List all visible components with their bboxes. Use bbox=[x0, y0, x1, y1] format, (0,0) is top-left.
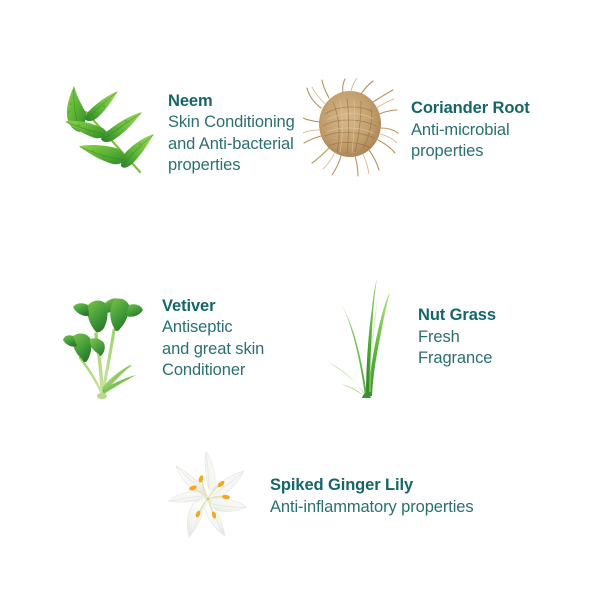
ingredient-item-neem: Neem Skin Conditioning and Anti-bacteria… bbox=[52, 82, 295, 185]
ingredient-text-vetiver: Vetiver Antiseptic and great skin Condit… bbox=[162, 296, 264, 382]
vetiver-sprig-image bbox=[62, 272, 148, 405]
coriander-root-image bbox=[303, 78, 399, 183]
ingredient-name: Spiked Ginger Lily bbox=[270, 475, 474, 496]
nut-grass-image bbox=[322, 272, 402, 403]
spiked-ginger-lily-image bbox=[158, 444, 262, 549]
ingredient-item-coriander-root: Coriander Root Anti-microbial properties bbox=[303, 78, 530, 183]
ingredient-description: Skin Conditioning and Anti-bacterial pro… bbox=[168, 112, 295, 176]
ingredient-item-vetiver: Vetiver Antiseptic and great skin Condit… bbox=[62, 272, 264, 405]
ingredient-text-spiked-ginger-lily: Spiked Ginger Lily Anti-inflammatory pro… bbox=[270, 475, 474, 518]
ingredient-description: Anti-microbial properties bbox=[411, 120, 530, 163]
ingredients-infographic: Neem Skin Conditioning and Anti-bacteria… bbox=[0, 0, 600, 600]
ingredient-description: Anti-inflammatory properties bbox=[270, 497, 474, 518]
ingredient-name: Neem bbox=[168, 91, 295, 112]
neem-leaf-image bbox=[52, 82, 156, 185]
ingredient-name: Vetiver bbox=[162, 296, 264, 317]
ingredient-name: Nut Grass bbox=[418, 305, 496, 326]
ingredient-description: Fresh Fragrance bbox=[418, 327, 496, 370]
ingredient-text-nut-grass: Nut Grass Fresh Fragrance bbox=[418, 305, 496, 369]
ingredient-description: Antiseptic and great skin Conditioner bbox=[162, 317, 264, 381]
ingredient-text-coriander-root: Coriander Root Anti-microbial properties bbox=[411, 98, 530, 162]
ingredient-text-neem: Neem Skin Conditioning and Anti-bacteria… bbox=[168, 91, 295, 177]
ingredient-name: Coriander Root bbox=[411, 98, 530, 119]
ingredient-item-nut-grass: Nut Grass Fresh Fragrance bbox=[322, 272, 496, 403]
ingredient-item-spiked-ginger-lily: Spiked Ginger Lily Anti-inflammatory pro… bbox=[158, 444, 474, 549]
